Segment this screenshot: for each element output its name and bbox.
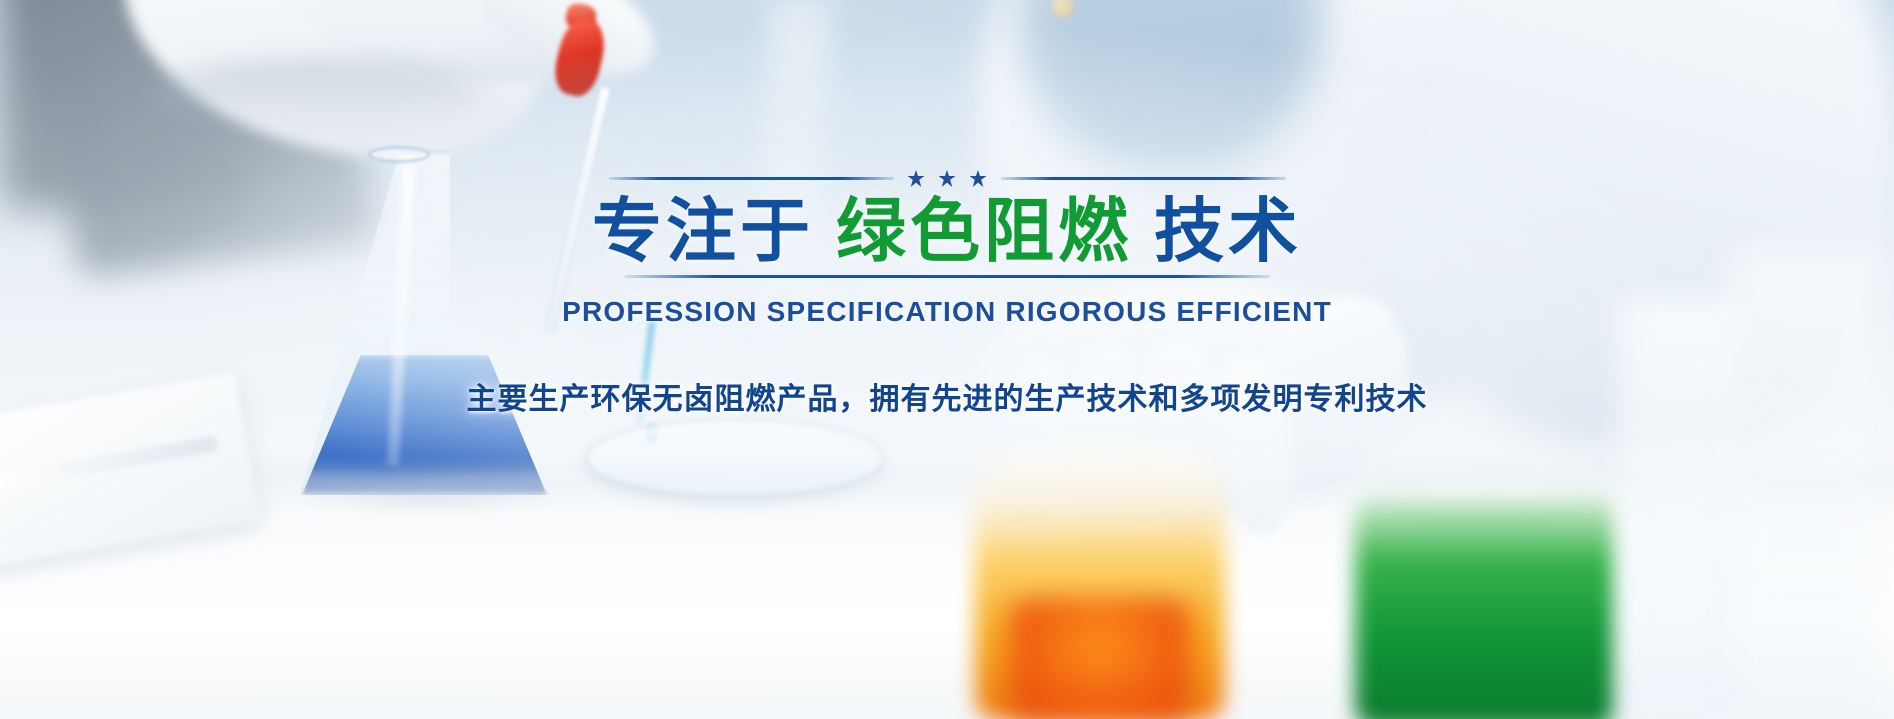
hero-banner: 专注于绿色阻燃技术 PROFESSION SPECIFICATION RIGOR…	[0, 0, 1894, 719]
star-group	[908, 170, 987, 187]
divider-line-right	[1001, 177, 1286, 180]
star-icon	[970, 170, 987, 187]
divider-line-bottom	[625, 275, 1270, 278]
decorative-divider	[609, 170, 1286, 187]
star-icon	[908, 170, 925, 187]
banner-headline: 专注于绿色阻燃技术	[592, 195, 1302, 268]
banner-subtitle-english: PROFESSION SPECIFICATION RIGOROUS EFFICI…	[562, 296, 1332, 328]
headline-part-3: 技术	[1154, 190, 1302, 272]
star-icon	[939, 170, 956, 187]
banner-text-overlay: 专注于绿色阻燃技术 PROFESSION SPECIFICATION RIGOR…	[0, 0, 1894, 719]
divider-line-left	[609, 177, 894, 180]
headline-part-2: 绿色阻燃	[836, 190, 1132, 272]
headline-part-1: 专注于	[592, 190, 814, 272]
banner-tagline: 主要生产环保无卤阻燃产品，拥有先进的生产技术和多项发明专利技术	[467, 374, 1428, 418]
